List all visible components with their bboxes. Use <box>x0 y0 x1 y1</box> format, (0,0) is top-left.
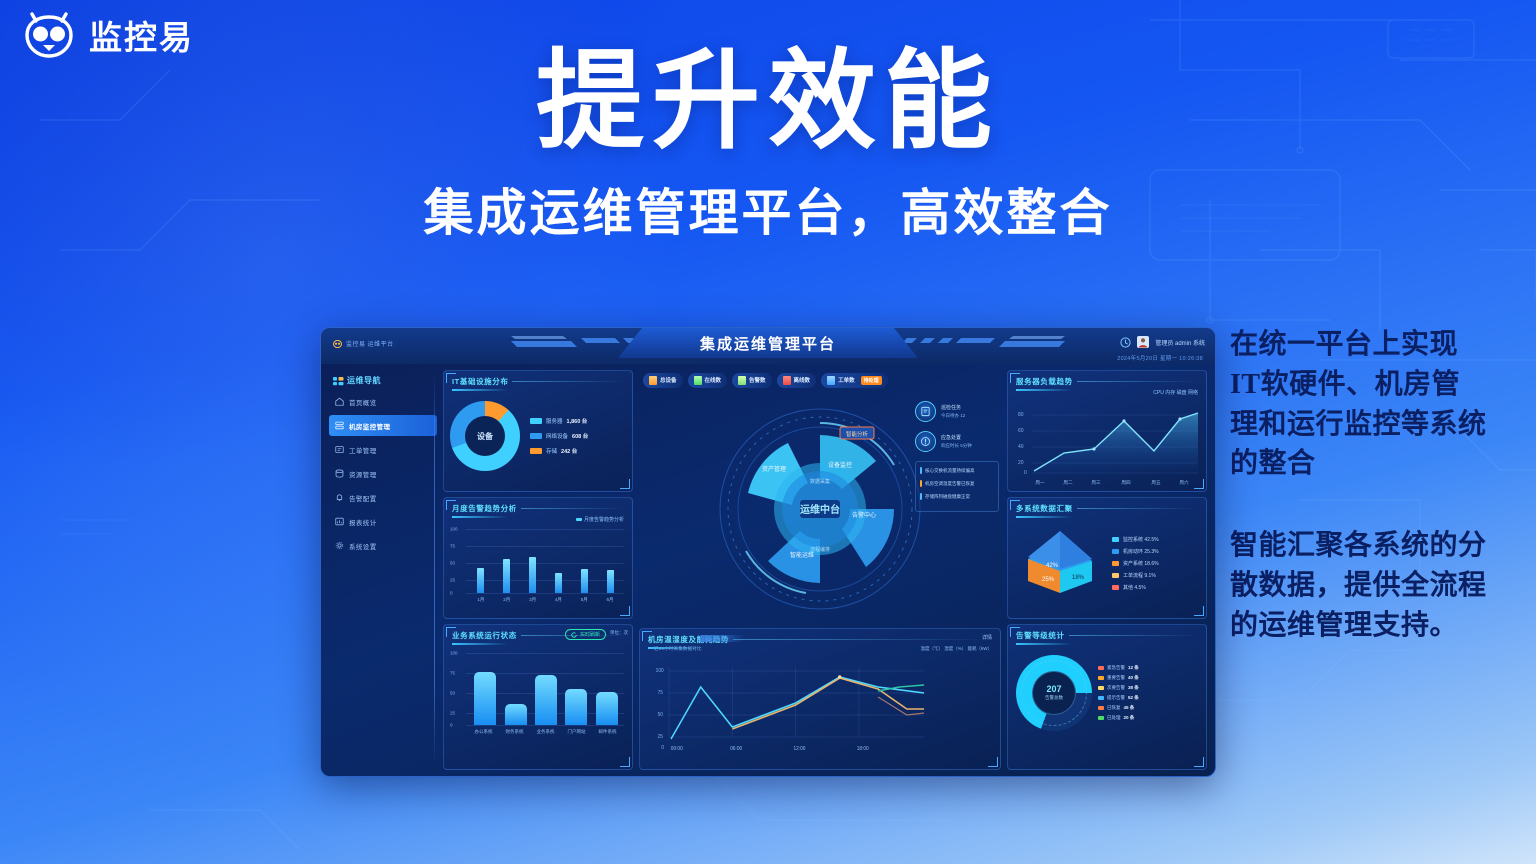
sidebar-item-alarm[interactable]: 告警配置 <box>329 487 437 508</box>
x-tick: 邮件系统 <box>599 729 617 735</box>
legend-value: 45 条 <box>1124 705 1135 711</box>
dashboard-user-area[interactable]: 管理员 admin 系统 <box>1120 336 1205 348</box>
hub-side-stack: 巡检任务 今日待办 12 应急处置 响应时长 5分钟 <box>915 401 999 512</box>
legend-value: 52 条 <box>1128 695 1139 701</box>
offline-icon <box>783 376 791 385</box>
bar <box>477 568 484 593</box>
side-badge-inspection[interactable]: 巡检任务 今日待办 12 <box>915 401 999 422</box>
dashboard-column-middle: 总设备 在线数 告警数 离线数 工单数 待处理 <box>639 370 1001 770</box>
legend-swatch <box>1112 537 1119 542</box>
side-badge-title: 巡检任务 <box>941 404 965 411</box>
dashboard-title: 集成运维管理平台 <box>700 333 836 354</box>
hub-tag-label: 智能分析 <box>846 430 869 438</box>
checklist-icon <box>915 401 936 422</box>
refresh-button-label: 实时刷新 <box>580 631 600 638</box>
legend-value: 20 条 <box>1124 715 1135 721</box>
legend-swatch <box>1098 696 1104 700</box>
bar <box>529 557 536 593</box>
svg-text:80: 80 <box>1018 412 1024 418</box>
page-subtitle: 集成运维管理平台，高效整合 <box>0 173 1536 245</box>
panel-environment-trend: 机房温湿度及能耗趋势 详情 近24小时采集数据对比 温度（℃） 湿度（%） 能耗… <box>639 628 1001 770</box>
legend-swatch <box>1112 585 1119 590</box>
menu-icon <box>333 376 344 386</box>
legend-item: 服务器 1,860 台 <box>530 417 588 425</box>
sidebar-item-settings[interactable]: 系统设置 <box>329 535 437 556</box>
hub-ring-label-1: 数据采集 <box>810 478 830 485</box>
bar <box>474 672 496 725</box>
title-rule <box>733 639 993 640</box>
legend-key: 次要告警 <box>1107 685 1125 691</box>
y-tick: 25 <box>450 578 455 583</box>
alarm-icon <box>738 376 746 385</box>
x-tick: 财务系统 <box>506 729 524 735</box>
legend-item: 次要告警38 条 <box>1098 685 1139 691</box>
kpi-offline[interactable]: 离线数 <box>777 373 817 388</box>
svg-text:50: 50 <box>658 712 664 718</box>
legend-key: 已恢复 <box>1107 705 1121 711</box>
avatar-icon[interactable] <box>1137 336 1149 348</box>
legend-swatch <box>1098 686 1104 690</box>
bar <box>505 704 527 725</box>
svg-text:100: 100 <box>656 668 664 674</box>
legend-item: 机房动环 25.3% <box>1112 548 1206 555</box>
bar-series <box>470 651 622 725</box>
sidebar-item-label: 告警配置 <box>349 493 377 503</box>
kpi-alarms[interactable]: 告警数 <box>732 373 772 388</box>
legend-value: 608 台 <box>572 432 588 440</box>
pie-3d-chart: 42% 25% 18% <box>1012 523 1108 603</box>
legend-item: 存储 242 台 <box>530 447 588 455</box>
gauge-chart-area: 207 告警总数 紧急告警12 条 重要告警40 条 次要告警38 条 提示告警… <box>1008 645 1206 740</box>
alert-icon <box>915 431 936 452</box>
list-item-text: 核心交换机流量持续偏高 <box>925 468 975 474</box>
big-bar-chart: 100 75 50 25 0 办公系统 财务系统 业 <box>450 647 626 735</box>
dashboard-body: 运维导航 首页概览 机房监控管理 工单管理 资源管理 告警配置 <box>321 364 1215 777</box>
title-rule <box>1069 635 1199 636</box>
svg-text:60: 60 <box>1018 428 1024 434</box>
kpi-label: 离线数 <box>794 376 811 384</box>
dashboard-brand-text: 监控易 运维平台 <box>346 339 394 348</box>
svg-text:06:00: 06:00 <box>730 746 742 752</box>
legend-label: 资产系统 18.6% <box>1123 560 1159 567</box>
legend-item: CPU 内存 磁盘 网络 <box>1153 389 1198 396</box>
y-tick: 25 <box>450 711 455 716</box>
legend-item: 提示告警52 条 <box>1098 695 1139 701</box>
sidebar-item-label: 系统设置 <box>349 541 377 551</box>
svg-text:0: 0 <box>1024 470 1027 476</box>
legend-swatch <box>1112 561 1119 566</box>
panel-title: 服务器负载趋势 <box>1016 376 1073 387</box>
kpi-label: 工单数 <box>838 376 855 384</box>
panel-title-row: IT基础设施分布 <box>444 371 632 389</box>
x-tick: 6月 <box>607 597 614 603</box>
kpi-badge: 待处理 <box>861 376 882 385</box>
panel-title-row: 服务器负载趋势 <box>1008 371 1206 389</box>
svg-text:0: 0 <box>661 745 664 751</box>
dashboard-title-banner: 集成运维管理平台 <box>618 328 918 358</box>
title-rule <box>521 508 625 509</box>
kpi-label: 总设备 <box>660 376 677 384</box>
gear-icon <box>335 541 344 550</box>
home-icon <box>335 397 344 406</box>
legend-item: 月度告警趋势分析 <box>576 516 624 523</box>
legend-item: 监控系统 42.5% <box>1112 536 1206 543</box>
svg-text:周一: 周一 <box>1035 480 1045 486</box>
panel-title: 告警等级统计 <box>1016 630 1065 641</box>
hub-petal-label-4: 资产管理 <box>762 465 786 473</box>
list-item-marker <box>920 467 922 474</box>
svg-text:25: 25 <box>658 734 664 740</box>
legend-key: 重要告警 <box>1107 675 1125 681</box>
svg-text:75: 75 <box>658 690 664 696</box>
bar <box>596 692 618 725</box>
x-tick: 4月 <box>555 597 562 603</box>
legend-item: 其他 4.5% <box>1112 584 1206 591</box>
legend-swatch <box>530 448 542 454</box>
legend-item: 网络设备 608 台 <box>530 432 588 440</box>
list-item[interactable]: 核心交换机流量持续偏高 <box>920 467 994 474</box>
bar <box>555 573 562 593</box>
hub-petal-label-2: 告警中心 <box>852 511 876 519</box>
pie-legend: 监控系统 42.5% 机房动环 25.3% 资产系统 18.6% 工单流程 9.… <box>1108 536 1206 591</box>
y-tick: 75 <box>450 671 455 676</box>
list-item-marker <box>920 480 922 487</box>
sidebar-item-report[interactable]: 报表统计 <box>329 511 437 532</box>
notification-list: 核心交换机流量持续偏高 机房空调温度告警已恢复 存储阵列磁盘健康正常 <box>915 461 999 512</box>
refresh-button[interactable]: 实时刷新 <box>565 629 606 640</box>
side-badge-sub: 响应时长 5分钟 <box>941 443 972 449</box>
gauge-chart: 207 告警总数 <box>1016 655 1092 731</box>
bar-series <box>468 529 623 593</box>
online-icon <box>694 376 702 385</box>
title-rule <box>1077 381 1199 382</box>
legend-item: 紧急告警12 条 <box>1098 665 1139 671</box>
y-tick: 50 <box>450 691 455 696</box>
clock-icon[interactable] <box>1120 337 1131 348</box>
svg-text:周五: 周五 <box>1151 480 1161 486</box>
sidebar-item-label: 报表统计 <box>349 517 377 527</box>
header-deco-right-icon <box>885 336 1065 350</box>
sidebar-item-home[interactable]: 首页概览 <box>329 391 437 412</box>
mini-owl-icon <box>333 340 342 348</box>
server-icon <box>335 421 344 430</box>
line-chart-legend: 温度（℃） 湿度（%） 能耗（kW） <box>921 646 993 652</box>
legend-label: 月度告警趋势分析 <box>584 516 624 523</box>
bar-chart-legend: 月度告警趋势分析 <box>444 516 632 523</box>
title-chip <box>700 635 744 642</box>
sidebar-divider <box>434 374 435 766</box>
donut-chart: 设备 <box>450 401 520 471</box>
line-chart: 10075 50250 00:0006:00 12:0018:00 <box>648 657 926 757</box>
list-item[interactable]: 机房空调温度告警已恢复 <box>920 480 994 487</box>
gauge-label: 告警总数 <box>1045 695 1063 701</box>
svg-text:20: 20 <box>1018 460 1024 466</box>
svg-text:18:00: 18:00 <box>857 746 869 752</box>
sidebar-item-label: 资源管理 <box>349 469 377 479</box>
gauge-legend: 紧急告警12 条 重要告警40 条 次要告警38 条 提示告警52 条 已恢复4… <box>1098 665 1139 721</box>
y-tick: 50 <box>450 561 455 566</box>
device-icon <box>649 376 657 385</box>
legend-value: 12 条 <box>1128 665 1139 671</box>
x-tick: 业务系统 <box>537 729 555 735</box>
list-item-text: 机房空调温度告警已恢复 <box>925 481 975 487</box>
svg-text:00:00: 00:00 <box>671 746 683 752</box>
legend-key: 存储 <box>546 447 557 455</box>
pie-slice-label-2: 25% <box>1042 577 1055 583</box>
panel-title: IT基础设施分布 <box>452 376 508 387</box>
sidebar-item-label: 机房监控管理 <box>349 421 390 431</box>
sidebar: 运维导航 首页概览 机房监控管理 工单管理 资源管理 告警配置 <box>329 370 437 770</box>
panel-title: 多系统数据汇聚 <box>1016 503 1073 514</box>
ticket-count-icon <box>827 376 835 385</box>
gauge-value: 207 <box>1046 684 1061 694</box>
legend-label: 机房动环 25.3% <box>1123 548 1159 555</box>
kpi-label: 在线数 <box>705 376 722 384</box>
dashboard-screenshot: 集成运维管理平台 监控易 运维平台 管理员 admin 系统 2024年5月20… <box>320 327 1216 777</box>
list-item-marker <box>920 493 922 500</box>
list-item-text: 存储阵列磁盘健康正常 <box>925 494 970 500</box>
dashboard-user-name: 管理员 admin 系统 <box>1155 338 1205 347</box>
legend-value: 242 台 <box>561 447 577 455</box>
bar <box>581 569 588 593</box>
title-rule <box>1077 508 1199 509</box>
bar <box>535 675 557 725</box>
sidebar-item-resource[interactable]: 资源管理 <box>329 463 437 484</box>
kpi-tickets[interactable]: 工单数 待处理 <box>821 373 888 388</box>
legend-label: CPU 内存 磁盘 网络 <box>1153 389 1198 396</box>
panel-title: 业务系统运行状态 <box>452 630 517 641</box>
panel-subtitle: 近24小时采集数据对比 <box>654 646 702 652</box>
panel-title: 月度告警趋势分析 <box>452 503 517 514</box>
title-underline <box>452 643 508 645</box>
panel-data-aggregation: 多系统数据汇聚 42% 25% <box>1007 497 1207 619</box>
legend-label: 其他 4.5% <box>1123 584 1146 591</box>
kpi-total-devices[interactable]: 总设备 <box>643 373 683 388</box>
legend-item: 资产系统 18.6% <box>1112 560 1206 567</box>
pie-slice-label-3: 18% <box>1072 575 1085 581</box>
side-badge-emergency[interactable]: 应急处置 响应时长 5分钟 <box>915 431 999 452</box>
svg-text:周六: 周六 <box>1179 479 1189 486</box>
legend-value: 1,860 台 <box>567 417 588 425</box>
y-tick: 0 <box>450 723 453 728</box>
legend-key: 提示告警 <box>1107 695 1125 701</box>
legend-swatch <box>530 433 542 439</box>
sidebar-title: 运维导航 <box>329 372 437 391</box>
headline-block: 提升效能 集成运维管理平台，高效整合 <box>0 44 1536 245</box>
hub-center-label: 运维中台 <box>800 503 840 516</box>
x-tick: 门户网站 <box>568 729 586 735</box>
panel-server-load-trend: 服务器负载趋势 CPU 内存 磁盘 网络 8060 40200 <box>1007 370 1207 492</box>
legend-item: 已恢复45 条 <box>1098 705 1139 711</box>
x-tick: 办公系统 <box>475 729 493 735</box>
refresh-icon <box>571 632 577 638</box>
legend-item: 已处理20 条 <box>1098 715 1139 721</box>
legend-label: 监控系统 42.5% <box>1123 536 1159 543</box>
dashboard-brand: 监控易 运维平台 <box>333 339 394 348</box>
chart-icon <box>335 517 344 526</box>
ticket-icon <box>335 445 344 454</box>
hub-area: 运维中台 设备监控 告警中心 智能运维 资产管理 数据采集 流程编排 智能分析 <box>639 395 1001 623</box>
bell-icon <box>335 493 344 502</box>
sidebar-item-server-room[interactable]: 机房监控管理 <box>329 415 437 436</box>
panel-infrastructure-distribution: IT基础设施分布 设备 服务器 1,860 台 <box>443 370 633 492</box>
panel-alarm-level-stats: 告警等级统计 207 告警总数 紧急告警12 条 重要告警40 条 <box>1007 624 1207 770</box>
sidebar-title-text: 运维导航 <box>347 375 381 386</box>
legend-swatch <box>1112 573 1119 578</box>
description-block: 在统一平台上实现IT软硬件、机房管理和运行监控等系统的整合 智能汇聚各系统的分散… <box>1230 325 1488 645</box>
legend-value: 38 条 <box>1128 685 1139 691</box>
panel-title-row: 月度告警趋势分析 <box>444 498 632 516</box>
gauge-center: 207 告警总数 <box>1032 671 1076 715</box>
legend-item: 工单流程 9.1% <box>1112 572 1206 579</box>
panel-business-system-status: 业务系统运行状态 实时刷新 单位：次 100 75 50 25 <box>443 624 633 770</box>
dashboard-datetime: 2024年5月20日 星期一 10:26:38 <box>1117 354 1203 362</box>
side-badge-sub: 今日待办 12 <box>941 413 965 419</box>
dashboard-header: 集成运维管理平台 监控易 运维平台 管理员 admin 系统 2024年5月20… <box>321 328 1215 364</box>
hub-ring-label-2: 流程编排 <box>810 546 830 553</box>
donut-center-label: 设备 <box>465 416 505 456</box>
legend-item: 重要告警40 条 <box>1098 675 1139 681</box>
sidebar-item-label: 首页概览 <box>349 397 377 407</box>
unit-label: 单位：次 <box>610 630 628 636</box>
legend-key: 网络设备 <box>546 432 568 440</box>
panel-title-row: 机房温湿度及能耗趋势 <box>640 629 1000 647</box>
svg-text:12:00: 12:00 <box>793 746 805 752</box>
y-tick: 0 <box>450 591 453 596</box>
description-paragraph-1: 在统一平台上实现IT软硬件、机房管理和运行监控等系统的整合 <box>1230 325 1488 484</box>
x-tick: 5月 <box>581 597 588 603</box>
legend-swatch <box>1112 549 1119 554</box>
x-tick: 3月 <box>529 597 536 603</box>
y-tick: 100 <box>450 651 458 656</box>
description-paragraph-2: 智能汇聚各系统的分散数据，提供全流程的运维管理支持。 <box>1230 526 1488 645</box>
panel-title-row: 告警等级统计 <box>1008 625 1206 643</box>
side-badge-title: 应急处置 <box>941 434 972 441</box>
kpi-online[interactable]: 在线数 <box>688 373 728 388</box>
panel-alarm-trend: 月度告警趋势分析 月度告警趋势分析 100 75 50 25 0 <box>443 497 633 619</box>
legend-swatch <box>1098 716 1104 720</box>
x-tick: 1月 <box>477 597 484 603</box>
dashboard-column-left: IT基础设施分布 设备 服务器 1,860 台 <box>443 370 633 770</box>
legend-key: 紧急告警 <box>1107 665 1125 671</box>
legend-key: 服务器 <box>546 417 563 425</box>
bar <box>503 559 510 593</box>
svg-text:周四: 周四 <box>1121 480 1131 486</box>
dashboard-column-right: 服务器负载趋势 CPU 内存 磁盘 网络 8060 40200 <box>1007 370 1207 770</box>
area-chart: 8060 40200 周一周二周三 周四周五周六 <box>1012 403 1202 487</box>
pie-chart-area: 42% 25% 18% 监控系统 42.5% 机房动环 25.3% 资产系统 1… <box>1008 518 1206 608</box>
database-icon <box>335 469 344 478</box>
legend-swatch <box>530 418 542 424</box>
legend-value: 40 条 <box>1128 675 1139 681</box>
pie-slice-label-1: 42% <box>1046 563 1059 569</box>
y-tick: 75 <box>450 544 455 549</box>
list-item[interactable]: 存储阵列磁盘健康正常 <box>920 493 994 500</box>
bar <box>607 570 614 593</box>
svg-text:40: 40 <box>1018 444 1024 450</box>
title-rule <box>512 381 625 382</box>
donut-legend: 服务器 1,860 台 网络设备 608 台 存储 242 台 <box>530 417 588 455</box>
bar <box>565 689 587 725</box>
svg-text:周二: 周二 <box>1063 480 1073 486</box>
legend-swatch <box>1098 666 1104 670</box>
x-tick: 2月 <box>503 597 510 603</box>
y-tick: 100 <box>450 527 458 532</box>
sidebar-item-label: 工单管理 <box>349 445 377 455</box>
donut-chart-area: 设备 服务器 1,860 台 网络设备 608 台 <box>444 391 632 481</box>
area-chart-legend: CPU 内存 磁盘 网络 <box>1008 389 1206 396</box>
panel-detail-link[interactable]: 详情 <box>982 634 992 641</box>
hub-petal-label-1: 设备监控 <box>828 461 852 469</box>
kpi-label: 告警数 <box>749 376 766 384</box>
bar-chart: 100 75 50 25 0 1月 2月 <box>450 525 626 603</box>
page-title: 提升效能 <box>0 44 1536 157</box>
legend-label: 工单流程 9.1% <box>1123 572 1156 579</box>
sidebar-item-ticket[interactable]: 工单管理 <box>329 439 437 460</box>
x-axis-labels: 1月 2月 3月 4月 5月 6月 <box>468 597 623 603</box>
x-axis-labels: 办公系统 财务系统 业务系统 门户网站 邮件系统 <box>468 729 623 735</box>
legend-swatch <box>1098 706 1104 710</box>
legend-swatch <box>1098 676 1104 680</box>
svg-text:周三: 周三 <box>1091 480 1101 486</box>
radial-hub-diagram: 运维中台 设备监控 告警中心 智能运维 资产管理 数据采集 流程编排 智能分析 <box>716 405 924 613</box>
legend-key: 已处理 <box>1107 715 1121 721</box>
kpi-row: 总设备 在线数 告警数 离线数 工单数 待处理 <box>639 370 1001 390</box>
panel-title-row: 多系统数据汇聚 <box>1008 498 1206 516</box>
